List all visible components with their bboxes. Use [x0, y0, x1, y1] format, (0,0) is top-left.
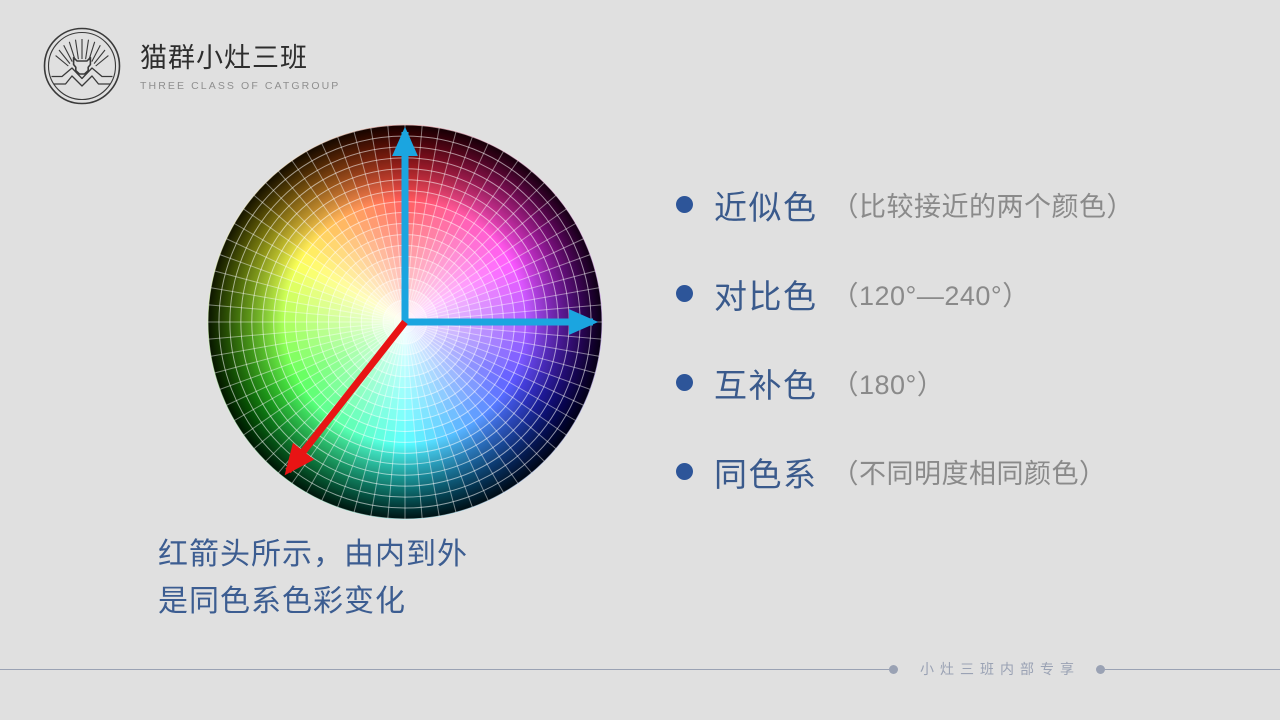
concept-list: 近似色 （比较接近的两个颜色） 对比色 （120°—240°） 互补色 （180…: [676, 160, 1246, 516]
footer-dot-left-icon: [889, 665, 898, 674]
list-item[interactable]: 同色系 （不同明度相同颜色）: [676, 427, 1246, 516]
footer-divider-left: [0, 669, 889, 670]
list-item[interactable]: 近似色 （比较接近的两个颜色）: [676, 160, 1246, 249]
footer-dot-right-icon: [1096, 665, 1105, 674]
catgroup-sunrise-emblem-icon: [42, 26, 122, 106]
list-item-note: （120°—240°）: [832, 274, 1030, 313]
brand-logo-text: 猫群小灶三班 THREE CLASS OF CATGROUP: [140, 40, 340, 92]
brand-name: 猫群小灶三班: [140, 44, 340, 74]
footer-text: 小灶三班内部专享: [898, 659, 1096, 679]
hsv-color-wheel-diagram: [195, 110, 620, 540]
color-wheel-figure: [195, 110, 620, 540]
list-item-term: 同色系: [714, 448, 818, 496]
list-item-term: 近似色: [714, 181, 818, 229]
list-item[interactable]: 互补色 （180°）: [676, 338, 1246, 427]
list-item-note: （比较接近的两个颜色）: [832, 185, 1135, 224]
list-item-term: 对比色: [714, 270, 818, 318]
footer-divider-right: [1105, 669, 1280, 670]
list-item-term: 互补色: [714, 359, 818, 407]
bullet-dot-icon: [676, 374, 693, 391]
wheel-caption: 红箭头所示，由内到外 是同色系色彩变化: [158, 531, 468, 625]
bullet-dot-icon: [676, 463, 693, 480]
slide-footer: 小灶三班内部专享: [0, 652, 1280, 686]
brand-logo: 猫群小灶三班 THREE CLASS OF CATGROUP: [42, 26, 340, 106]
list-item-note: （180°）: [832, 363, 945, 402]
list-item[interactable]: 对比色 （120°—240°）: [676, 249, 1246, 338]
list-item-note: （不同明度相同颜色）: [832, 452, 1107, 491]
bullet-dot-icon: [676, 285, 693, 302]
brand-subtitle: THREE CLASS OF CATGROUP: [140, 80, 340, 92]
bullet-dot-icon: [676, 196, 693, 213]
